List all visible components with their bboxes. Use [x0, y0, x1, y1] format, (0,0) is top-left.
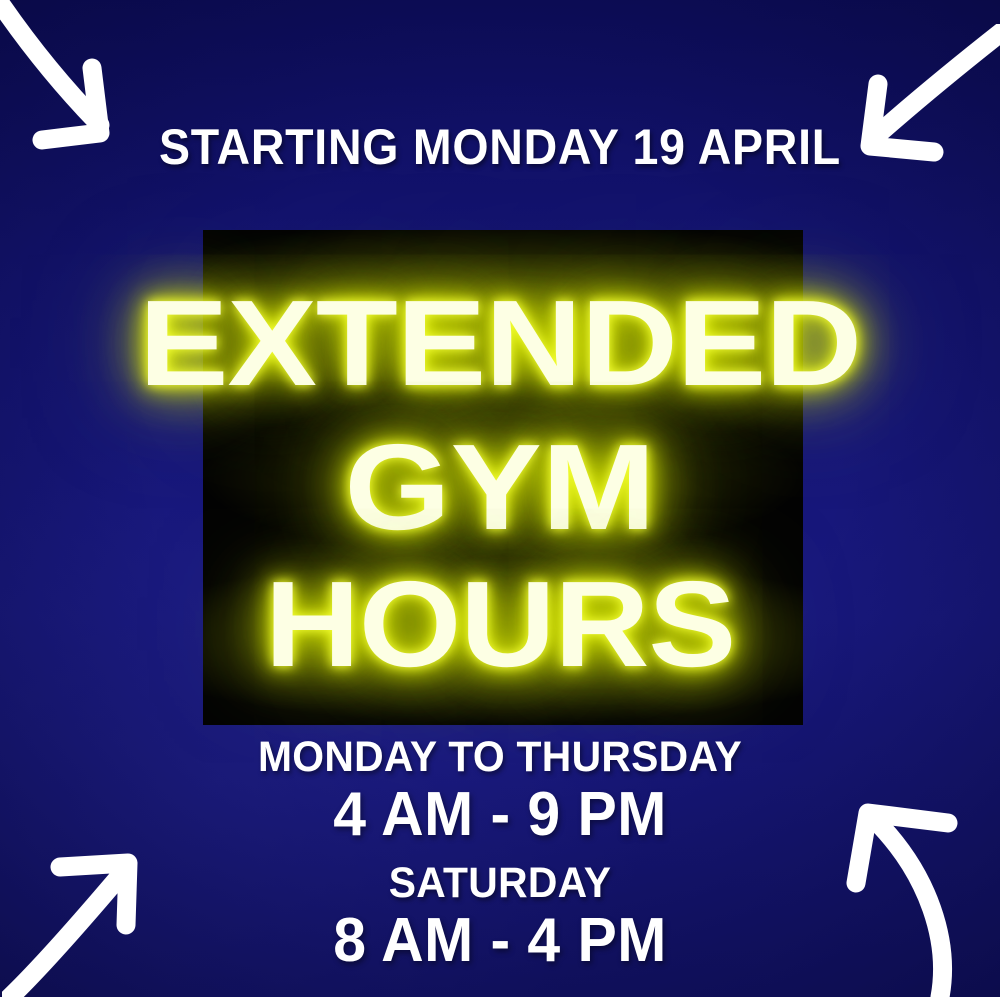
neon-panel	[203, 230, 803, 725]
schedule-item: MONDAY TO THURSDAY 4 AM - 9 PM	[0, 735, 1000, 849]
schedule-list: MONDAY TO THURSDAY 4 AM - 9 PM SATURDAY …	[0, 735, 1000, 975]
schedule-item: SATURDAY 8 AM - 4 PM	[0, 861, 1000, 975]
schedule-hours: 4 AM - 9 PM	[25, 782, 975, 849]
schedule-days: SATURDAY	[25, 861, 975, 906]
schedule-days: MONDAY TO THURSDAY	[25, 735, 975, 780]
schedule-hours: 8 AM - 4 PM	[25, 908, 975, 975]
gym-hours-poster: STARTING MONDAY 19 APRIL EXTENDED GYM HO…	[0, 0, 1000, 997]
page-title: STARTING MONDAY 19 APRIL	[35, 122, 965, 172]
